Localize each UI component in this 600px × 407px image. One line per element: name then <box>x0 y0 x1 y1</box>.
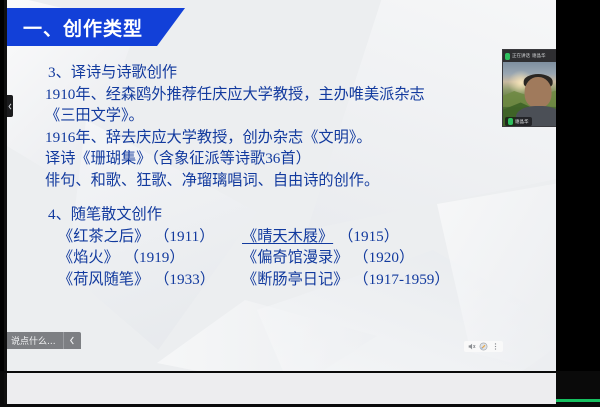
section-heading-4: 4、随笔散文创作 <box>45 204 556 226</box>
book-title-right: 《断肠亭日记》 <box>242 271 348 288</box>
section-3-line-2: 《三田文学》。 <box>45 105 556 127</box>
book-entry-left: 《焰火》 （1919） <box>58 247 242 269</box>
video-thumbnail-tile[interactable]: 正在讲话 谢晶华 谢晶华 <box>502 49 556 127</box>
book-entry-right: 《晴天木屐》 （1915） <box>242 226 399 248</box>
panel-collapse-handle[interactable] <box>7 95 13 117</box>
chat-bar[interactable]: 说点什么... <box>7 332 81 349</box>
book-entry-left: 《荷风随笔》 （1933） <box>58 269 242 291</box>
book-entry-right: 《断肠亭日记》 （1917-1959） <box>242 269 450 291</box>
section-3-line-4: 译诗《珊瑚集》（含象征派等诗歌36首） <box>45 148 556 170</box>
mute-icon[interactable] <box>467 342 476 351</box>
book-row: 《焰火》 （1919） 《偏奇馆漫录》 （1920） <box>45 247 556 269</box>
section-3-line-5: 俳句、和歌、狂歌、净瑠璃唱词、自由诗的创作。 <box>45 170 556 192</box>
slide-body: 3、译诗与诗歌创作 1910年、经森鸥外推荐任庆应大学教授，主办唯美派杂志 《三… <box>45 62 556 290</box>
speaking-status-label: 正在讲话 <box>512 53 530 59</box>
book-year-left: （1933） <box>154 271 215 288</box>
book-row: 《荷风随笔》 （1933） 《断肠亭日记》 （1917-1959） <box>45 269 556 291</box>
slide-title-banner: 一、创作类型 <box>4 8 185 46</box>
book-title-right: 《晴天木屐》 <box>242 228 333 245</box>
chat-collapse-button[interactable] <box>63 332 81 349</box>
book-entry-right: 《偏奇馆漫录》 （1920） <box>242 247 414 269</box>
participant-name-badge: 谢晶华 <box>505 117 532 126</box>
video-feed: 谢晶华 <box>503 62 556 127</box>
slide-title: 一、创作类型 <box>23 14 143 41</box>
section-3-line-1: 1910年、经森鸥外推荐任庆应大学教授，主办唯美派杂志 <box>45 84 556 106</box>
microphone-icon <box>505 53 510 60</box>
chat-input[interactable]: 说点什么... <box>7 332 63 349</box>
annotate-icon[interactable] <box>479 342 488 351</box>
participant-silhouette <box>525 77 552 108</box>
book-year-right: （1915） <box>338 228 399 245</box>
right-letterbox <box>556 0 600 371</box>
book-title-left: 《荷风随笔》 <box>58 271 149 288</box>
book-title-left: 《焰火》 <box>58 249 119 266</box>
book-year-right: （1920） <box>353 249 414 266</box>
book-year-left: （1911） <box>154 228 214 245</box>
meeting-stage: 一、创作类型 3、译诗与诗歌创作 1910年、经森鸥外推荐任庆应大学教授，主办唯… <box>0 0 600 407</box>
book-entry-left: 《红茶之后》 （1911） <box>58 226 242 248</box>
section-spacer <box>45 191 556 204</box>
microphone-icon <box>508 118 513 125</box>
book-title-right: 《偏奇馆漫录》 <box>242 249 348 266</box>
video-tile-header: 正在讲话 谢晶华 <box>503 50 556 62</box>
more-menu-icon[interactable] <box>491 342 500 351</box>
section-3-line-3: 1916年、辞去庆应大学教授，创办杂志《文明》。 <box>45 127 556 149</box>
book-year-left: （1919） <box>124 249 185 266</box>
slide-lower-area <box>4 373 556 404</box>
book-year-right: （1917-1959） <box>353 271 449 288</box>
book-row: 《红茶之后》 （1911） 《晴天木屐》 （1915） <box>45 226 556 248</box>
section-heading-3: 3、译诗与诗歌创作 <box>45 62 556 84</box>
status-accent-bar <box>556 399 600 402</box>
shared-slide: 一、创作类型 3、译诗与诗歌创作 1910年、经森鸥外推荐任庆应大学教授，主办唯… <box>4 0 556 371</box>
participant-name: 谢晶华 <box>515 119 529 125</box>
slide-viewer-controls[interactable] <box>464 341 503 352</box>
video-tile-participant-label: 谢晶华 <box>532 53 546 59</box>
book-title-left: 《红茶之后》 <box>58 228 149 245</box>
background-facet <box>157 300 377 371</box>
